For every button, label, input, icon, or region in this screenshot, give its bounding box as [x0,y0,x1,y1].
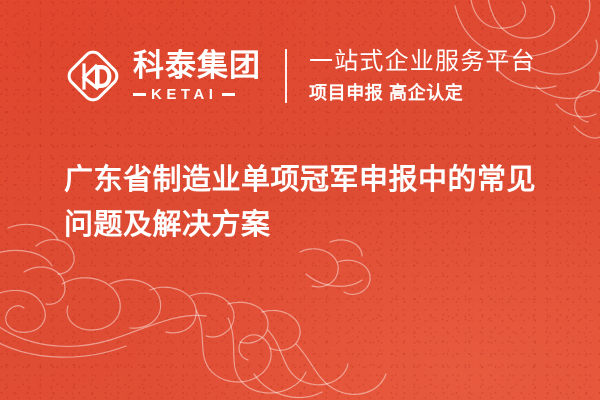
vertical-divider [285,49,287,103]
logo-wordmark: 科泰集团 KETAI [133,50,261,102]
slogan-main: 一站式企业服务平台 [309,48,536,76]
company-name-en: KETAI [151,87,217,102]
slogan-block: 一站式企业服务平台 项目申报 高企认定 [309,48,536,105]
page-title: 广东省制造业单项冠军申报中的常见问题及解决方案 [64,158,554,248]
company-name-en-row: KETAI [133,87,261,102]
ketai-diamond-kt-monogram-icon [62,45,124,107]
company-name-cn: 科泰集团 [133,50,261,83]
dash-left-icon [133,93,146,96]
banner-header: 科泰集团 KETAI 一站式企业服务平台 项目申报 高企认定 [62,40,536,112]
slogan-sub: 项目申报 高企认定 [309,83,536,105]
promo-banner: 科泰集团 KETAI 一站式企业服务平台 项目申报 高企认定 广东省制造业单项冠… [0,0,600,400]
dash-right-icon [222,93,235,96]
